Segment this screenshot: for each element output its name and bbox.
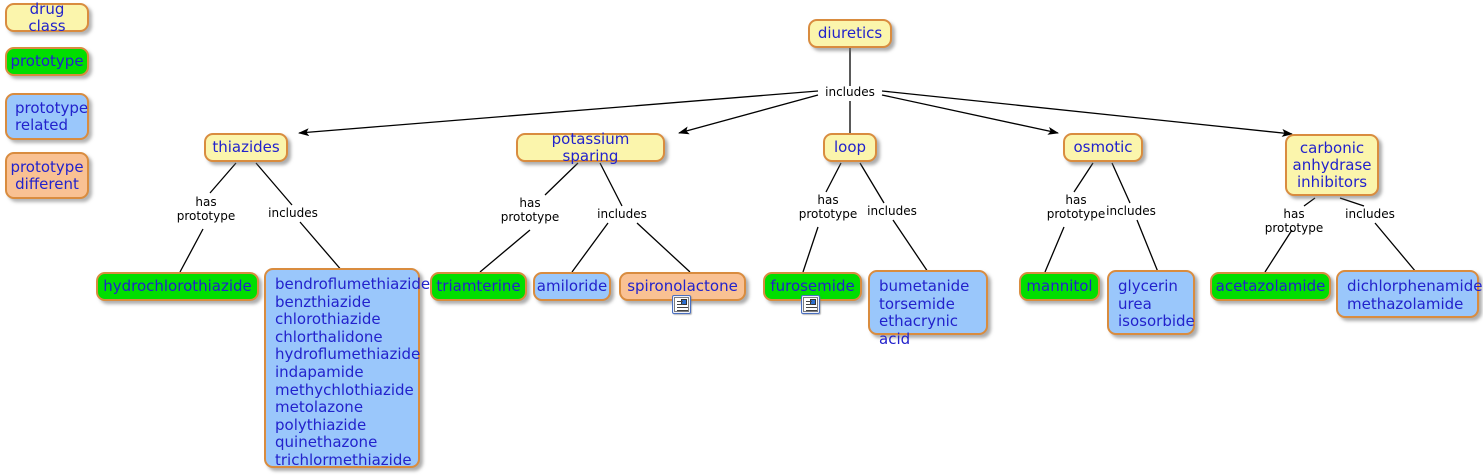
document-resource-icon[interactable] xyxy=(672,295,691,314)
node-label: hydrochlorothiazide xyxy=(103,278,252,295)
node-label: thiazides xyxy=(212,139,279,156)
node-label: amiloride xyxy=(537,278,607,295)
node-acetazolamide[interactable]: acetazolamide xyxy=(1210,272,1331,301)
node-carbonic-anhydrase-inhibitors[interactable]: carbonic anhydrase inhibitors xyxy=(1285,134,1379,196)
document-line xyxy=(677,301,683,302)
document-page xyxy=(803,297,818,312)
legend-item-drug-class: drug class xyxy=(5,3,89,32)
node-label: loop xyxy=(834,139,866,156)
edge-label-root-includes: includes xyxy=(820,86,880,100)
node-label: mannitol xyxy=(1026,278,1092,295)
edge-label-loop-has-prototype: has prototype xyxy=(795,194,861,221)
node-label: furosemide xyxy=(770,278,854,295)
edge-label-carbonic-includes: includes xyxy=(1339,208,1401,222)
node-label: dichlorphenamide methazolamide xyxy=(1347,278,1482,313)
node-label: diuretics xyxy=(818,25,882,42)
legend-label: prototype related xyxy=(15,100,88,134)
edge-label-carbonic-has-prototype: has prototype xyxy=(1261,208,1327,235)
document-line xyxy=(806,304,812,305)
legend-label: prototype xyxy=(10,53,83,70)
node-thiazides[interactable]: thiazides xyxy=(204,133,288,162)
legend-label: drug class xyxy=(15,1,79,35)
node-hydrochlorothiazide[interactable]: hydrochlorothiazide xyxy=(96,272,259,301)
node-label: osmotic xyxy=(1073,139,1132,156)
document-line xyxy=(677,304,683,305)
edge-label-osmotic-includes: includes xyxy=(1100,205,1162,219)
document-line xyxy=(806,307,817,308)
node-osmotic[interactable]: osmotic xyxy=(1063,133,1143,162)
node-thiazide-related-list[interactable]: bendroflumethiazide benzthiazide chlorot… xyxy=(264,268,420,468)
document-page xyxy=(674,297,689,312)
document-line xyxy=(677,310,688,311)
edge-label-thiazides-includes: includes xyxy=(262,207,324,221)
document-resource-icon[interactable] xyxy=(801,295,820,314)
node-amiloride[interactable]: amiloride xyxy=(533,272,611,301)
legend-label: prototype different xyxy=(10,159,83,193)
node-potassium-sparing[interactable]: potassium sparing xyxy=(516,133,665,162)
document-line xyxy=(806,301,812,302)
node-label: spironolactone xyxy=(627,278,738,295)
node-carbonic-related-list[interactable]: dichlorphenamide methazolamide xyxy=(1336,270,1479,318)
node-triamterine[interactable]: triamterine xyxy=(430,272,527,301)
edge-label-loop-includes: includes xyxy=(861,205,923,219)
node-label: carbonic anhydrase inhibitors xyxy=(1293,140,1372,191)
legend-item-prototype: prototype xyxy=(5,47,89,76)
node-osmotic-related-list[interactable]: glycerin urea isosorbide xyxy=(1107,270,1195,335)
document-line xyxy=(806,310,817,311)
edge-label-potassium-includes: includes xyxy=(591,208,653,222)
edge-lines xyxy=(0,0,1483,475)
node-label: bendroflumethiazide benzthiazide chlorot… xyxy=(275,276,430,470)
node-label: bumetanide torsemide ethacrynic acid xyxy=(879,278,977,348)
node-label: potassium sparing xyxy=(526,131,655,165)
legend-item-prototype-different: prototype different xyxy=(5,152,89,199)
legend-item-prototype-related: prototype related xyxy=(5,93,89,140)
concept-map-canvas: drug class prototype prototype related p… xyxy=(0,0,1483,475)
node-label: acetazolamide xyxy=(1216,278,1326,295)
node-diuretics[interactable]: diuretics xyxy=(808,19,892,48)
document-line xyxy=(677,307,688,308)
node-mannitol[interactable]: mannitol xyxy=(1019,272,1100,301)
node-label: triamterine xyxy=(436,278,520,295)
edge-label-potassium-has-prototype: has prototype xyxy=(497,197,563,224)
node-loop[interactable]: loop xyxy=(823,133,877,162)
node-loop-related-list[interactable]: bumetanide torsemide ethacrynic acid xyxy=(868,270,988,335)
node-label: glycerin urea isosorbide xyxy=(1118,278,1195,331)
edge-label-thiazides-has-prototype: has prototype xyxy=(173,196,239,223)
